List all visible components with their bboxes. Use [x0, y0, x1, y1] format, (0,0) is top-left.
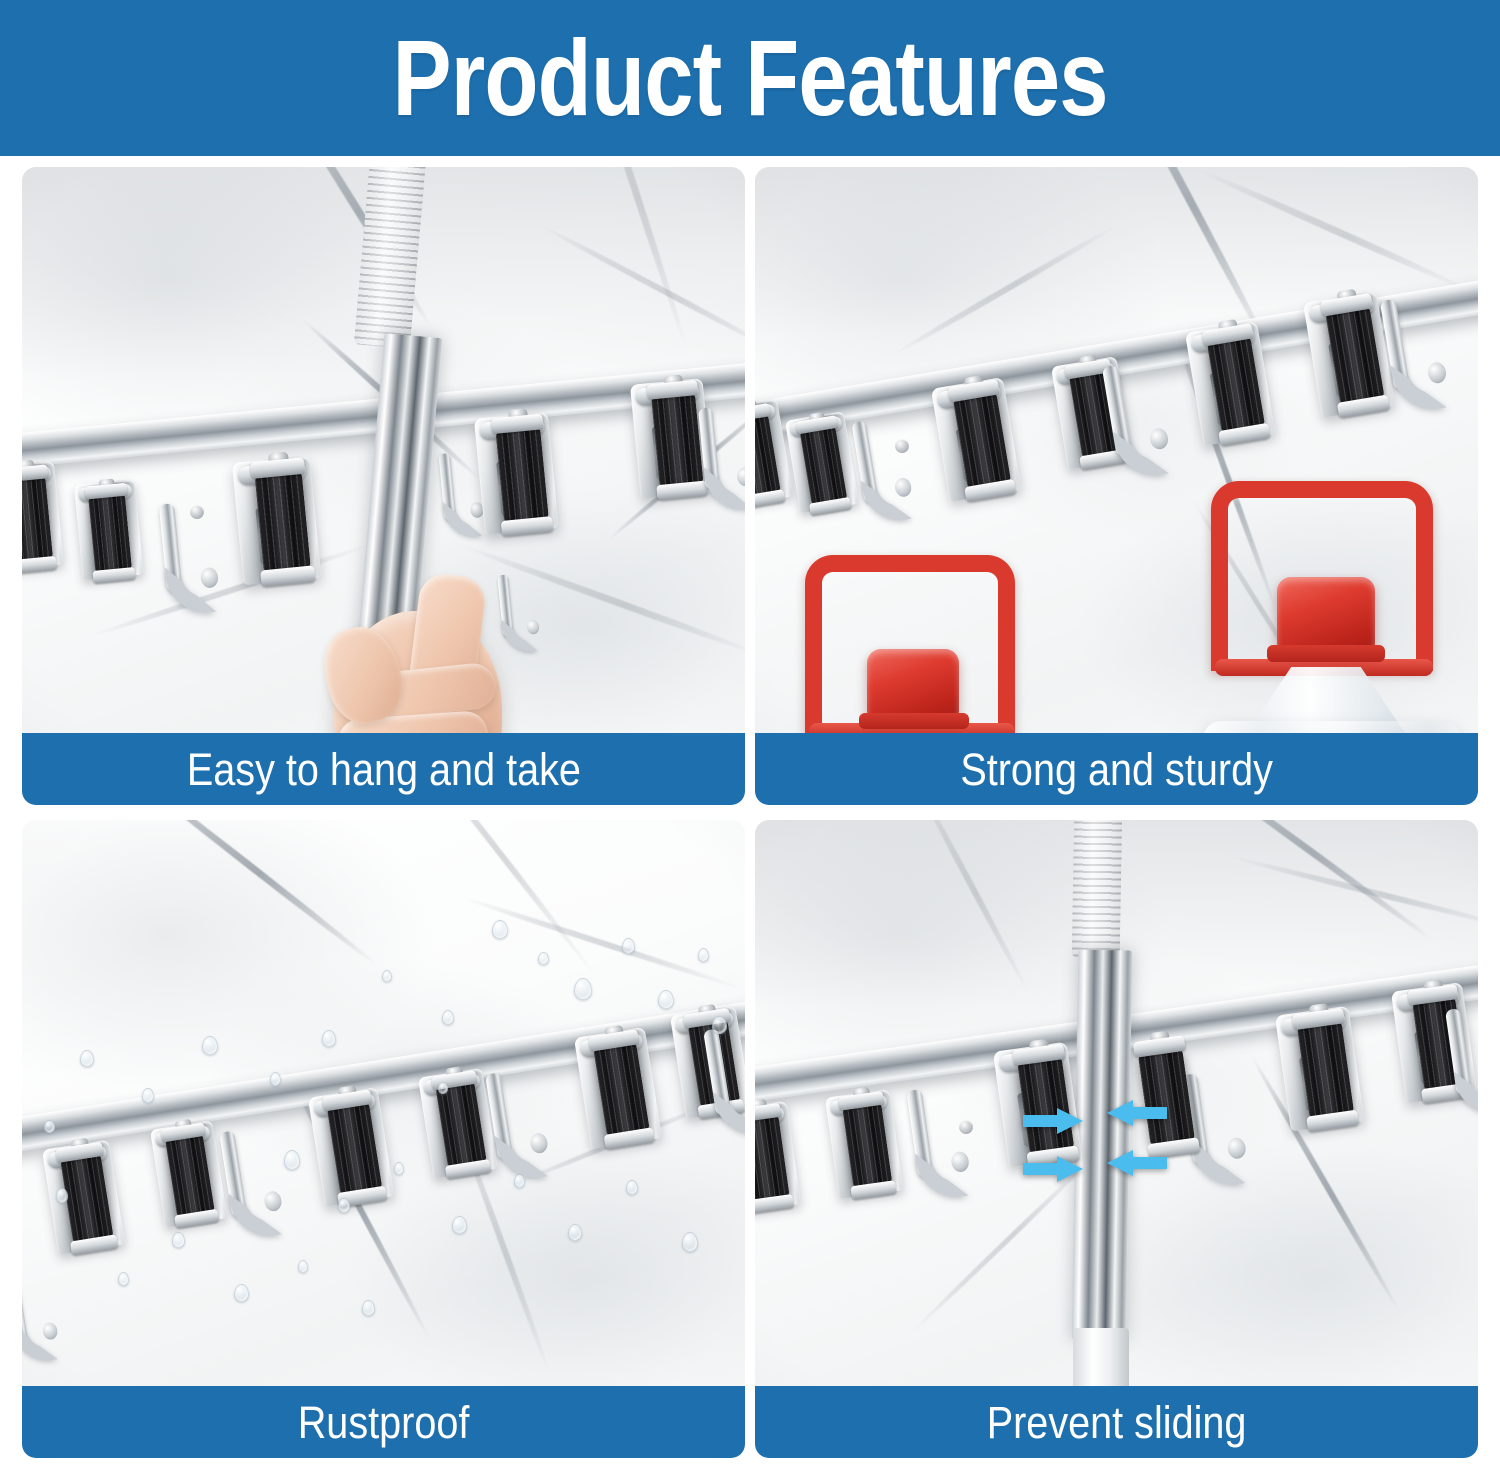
water-droplet: [626, 1180, 638, 1195]
panel-caption-text: Rustproof: [298, 1400, 470, 1445]
water-droplet: [698, 948, 709, 962]
water-droplet: [322, 1030, 336, 1047]
water-droplet: [338, 1198, 350, 1213]
photo-rack-with-water-droplets: [22, 820, 745, 1458]
motion-arrow-left-icon: [1107, 1100, 1167, 1126]
feature-panel-strong-and-sturdy[interactable]: Strong and sturdy: [755, 167, 1478, 805]
water-droplet: [142, 1088, 154, 1103]
chrome-hook: [159, 500, 223, 625]
water-droplet: [234, 1284, 249, 1302]
panel-caption-text: Easy to hang and take: [186, 747, 580, 792]
water-droplet: [44, 1120, 55, 1133]
jug-cap-skirt: [859, 713, 969, 729]
water-droplet: [622, 938, 635, 954]
water-droplet: [438, 1082, 448, 1094]
water-droplet: [682, 1232, 698, 1252]
jug-cap: [867, 649, 959, 719]
feature-panel-easy-to-hang[interactable]: Easy to hang and take: [22, 167, 745, 805]
jug-cap-skirt: [1267, 645, 1385, 662]
water-droplet: [492, 920, 508, 939]
water-droplet: [574, 978, 592, 1000]
gripper-roller: [651, 392, 704, 488]
mop-pole-grip: [1072, 820, 1123, 958]
panel-caption-bar: Strong and sturdy: [755, 733, 1478, 805]
motion-arrow-right-icon: [1023, 1156, 1083, 1182]
photo-jugs-hanging: [755, 167, 1478, 805]
water-droplet: [538, 952, 549, 965]
water-droplet: [298, 1260, 308, 1273]
gripper-cap-top: [647, 380, 699, 400]
gripper-roller: [495, 426, 549, 524]
panel-caption-bar: Easy to hang and take: [22, 733, 745, 805]
gripper-cap-top: [755, 403, 771, 423]
panel-caption-text: Strong and sturdy: [960, 747, 1273, 792]
header-banner: Product Features: [0, 0, 1500, 156]
photo-hand-inserting-mop-pole: [22, 167, 745, 805]
motion-arrow-left-icon: [1107, 1150, 1167, 1176]
water-droplet: [270, 1072, 281, 1086]
gripper-roller: [254, 471, 310, 574]
panel-caption-text: Prevent sliding: [987, 1400, 1247, 1445]
water-droplet: [658, 990, 674, 1009]
water-droplet: [362, 1300, 375, 1316]
water-droplet: [80, 1050, 94, 1067]
feature-panel-prevent-sliding[interactable]: Prevent sliding: [755, 820, 1478, 1458]
jug-cap: [1277, 577, 1375, 651]
gripper-cap-top: [755, 1103, 782, 1123]
chrome-hook: [497, 572, 542, 660]
water-droplet: [202, 1036, 218, 1055]
water-droplet: [56, 1188, 68, 1203]
hook-tip: [526, 619, 540, 635]
gripper-roller: [88, 493, 132, 573]
motion-arrow-right-icon: [1023, 1108, 1083, 1134]
water-droplet: [284, 1150, 300, 1170]
water-droplet: [452, 1216, 467, 1234]
water-droplet: [172, 1232, 185, 1248]
gripper-cap-top: [84, 483, 127, 500]
feature-panel-rustproof[interactable]: Rustproof: [22, 820, 745, 1458]
water-droplet: [382, 970, 392, 982]
panel-caption-bar: Rustproof: [22, 1386, 745, 1458]
water-droplet: [118, 1272, 129, 1286]
gripper-cap-top: [22, 464, 48, 482]
water-droplet: [514, 1174, 525, 1188]
water-droplet: [442, 1010, 454, 1025]
water-droplet: [568, 1224, 582, 1241]
water-droplet: [394, 1162, 404, 1175]
water-droplet: [712, 1016, 727, 1034]
photo-pole-clamped-with-arrows: [755, 820, 1478, 1458]
page-title: Product Features: [392, 24, 1107, 132]
product-features-infographic: Product Features: [0, 0, 1500, 1465]
feature-panel-grid: Easy to hang and take: [22, 167, 1478, 1458]
panel-caption-bar: Prevent sliding: [755, 1386, 1478, 1458]
